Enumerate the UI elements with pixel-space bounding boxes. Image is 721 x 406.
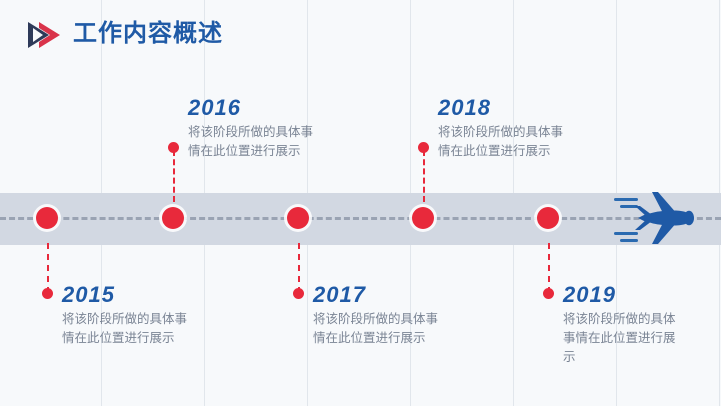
airplane-icon	[608, 188, 704, 248]
slide-canvas: 工作内容概述	[0, 0, 721, 406]
connector-dot-2017	[293, 288, 304, 299]
double-chevron-logo-icon	[24, 20, 64, 50]
milestone-node-2017[interactable]	[287, 207, 309, 229]
milestone-desc-line1-2017: 将该阶段所做的具体事	[313, 310, 465, 329]
milestone-desc-line2-2018: 情在此位置进行展示	[438, 142, 588, 161]
connector-stem-2017	[298, 243, 300, 293]
milestone-year-2015: 2015	[62, 282, 214, 308]
milestone-entry-2018[interactable]: 2018 将该阶段所做的具体事 情在此位置进行展示	[438, 95, 588, 161]
milestone-desc-line1-2015: 将该阶段所做的具体事	[62, 310, 214, 329]
page-title: 工作内容概述	[73, 18, 223, 50]
milestone-node-2016[interactable]	[162, 207, 184, 229]
milestone-year-2017: 2017	[313, 282, 465, 308]
milestone-desc-line2-2015: 情在此位置进行展示	[62, 329, 214, 348]
connector-stem-2019	[548, 243, 550, 293]
milestone-node-2018[interactable]	[412, 207, 434, 229]
connector-stem-2018	[423, 150, 425, 202]
milestone-entry-2015[interactable]: 2015 将该阶段所做的具体事 情在此位置进行展示	[62, 282, 214, 348]
milestone-entry-2019[interactable]: 2019 将该阶段所做的具体 事情在此位置进行展 示	[563, 282, 683, 367]
milestone-desc-line1-2019: 将该阶段所做的具体	[563, 310, 683, 329]
milestone-desc-line2-2016: 情在此位置进行展示	[188, 142, 338, 161]
milestone-desc-line2-2019: 事情在此位置进行展	[563, 329, 683, 348]
milestone-node-2015[interactable]	[36, 207, 58, 229]
milestone-node-2019[interactable]	[537, 207, 559, 229]
milestone-desc-line1-2018: 将该阶段所做的具体事	[438, 123, 588, 142]
connector-stem-2015	[47, 243, 49, 293]
milestone-entry-2016[interactable]: 2016 将该阶段所做的具体事 情在此位置进行展示	[188, 95, 338, 161]
milestone-entry-2017[interactable]: 2017 将该阶段所做的具体事 情在此位置进行展示	[313, 282, 465, 348]
milestone-year-2018: 2018	[438, 95, 588, 121]
milestone-year-2016: 2016	[188, 95, 338, 121]
connector-dot-2015	[42, 288, 53, 299]
milestone-year-2019: 2019	[563, 282, 683, 308]
connector-dot-2016	[168, 142, 179, 153]
milestone-desc-line1-2016: 将该阶段所做的具体事	[188, 123, 338, 142]
milestone-desc-line2-2017: 情在此位置进行展示	[313, 329, 465, 348]
connector-stem-2016	[173, 150, 175, 202]
connector-dot-2018	[418, 142, 429, 153]
connector-dot-2019	[543, 288, 554, 299]
milestone-desc-line3-2019: 示	[563, 348, 683, 367]
